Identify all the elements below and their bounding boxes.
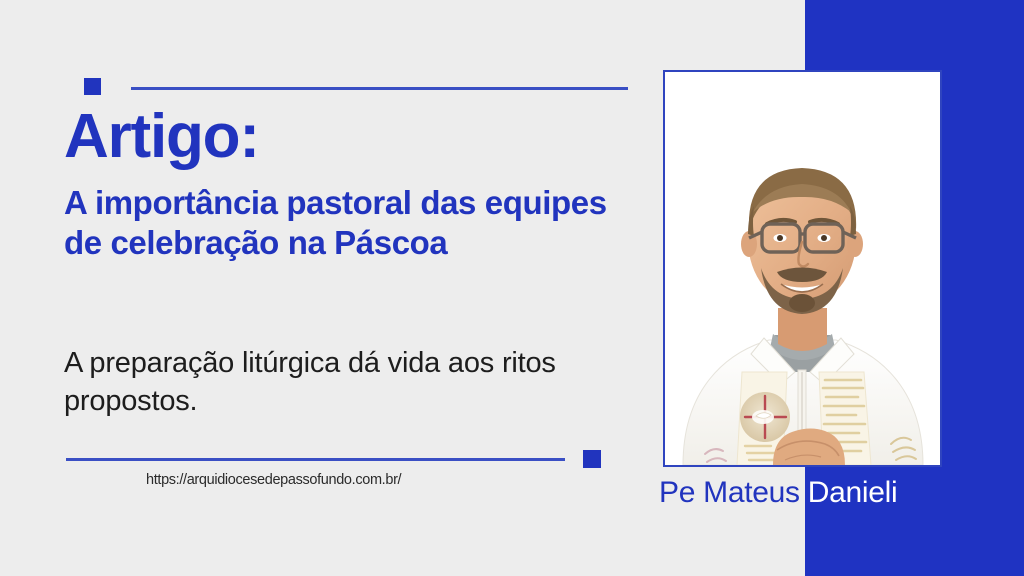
caption-name-trailing: Danieli (800, 476, 898, 509)
page-title: A importância pastoral das equipes de ce… (64, 183, 624, 262)
page-subtitle: A preparação litúrgica dá vida aos ritos… (64, 344, 619, 421)
divider-top (131, 87, 628, 90)
portrait-illustration (665, 72, 940, 465)
portrait-photo (665, 72, 940, 465)
portrait-photo-frame (663, 70, 942, 467)
caption-name-leading: Pe Mateus (659, 476, 800, 509)
page-kicker: Artigo: (64, 106, 259, 168)
article-slide: Artigo: A importância pastoral das equip… (0, 0, 1024, 576)
square-accent-top-icon (84, 78, 101, 95)
square-accent-bottom-icon (583, 450, 601, 468)
website-url[interactable]: https://arquidiocesedepassofundo.com.br/ (146, 472, 401, 488)
photo-caption: Pe Mateus Danieli (659, 478, 897, 508)
divider-bottom (66, 458, 565, 461)
